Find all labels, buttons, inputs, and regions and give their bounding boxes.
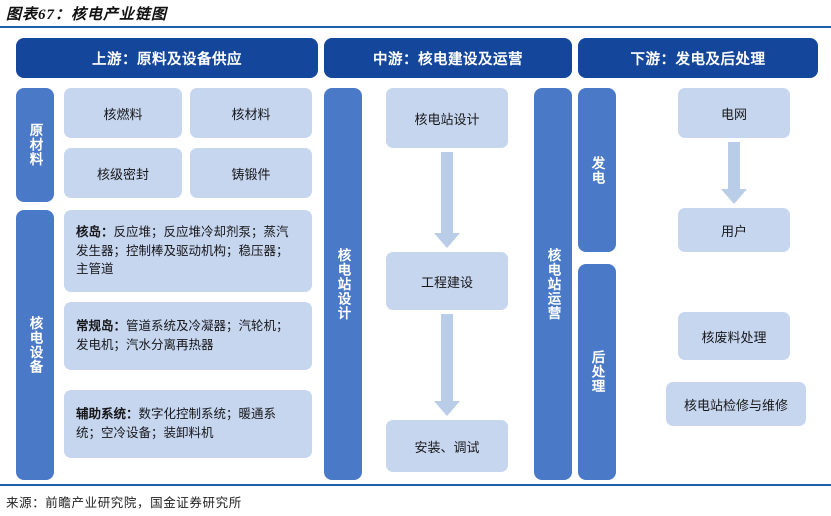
- top-divider: [0, 26, 831, 28]
- box-auxiliary-system-lead: 辅助系统：: [76, 407, 139, 421]
- arrow-construction-to-installation: [434, 314, 460, 416]
- page-title: 图表67：核电产业链图: [6, 3, 167, 24]
- box-nuclear-fuel[interactable]: 核燃料: [64, 88, 182, 138]
- box-power-grid[interactable]: 电网: [678, 88, 790, 138]
- column-header-upstream: 上游：原料及设备供应: [16, 38, 318, 78]
- supply-chain-diagram: 上游：原料及设备供应 原材料 核燃料 核材料 核级密封 铸锻件 核电设备 核岛：…: [0, 30, 831, 482]
- box-nuclear-waste-treatment[interactable]: 核废料处理: [678, 312, 790, 360]
- group-label-post-processing: 后处理: [578, 264, 616, 480]
- group-label-plant-operation: 核电站运营: [534, 88, 572, 480]
- box-conventional-island-lead: 常规岛：: [76, 319, 126, 333]
- group-label-nuclear-equipment: 核电设备: [16, 210, 54, 480]
- box-nuclear-grade-seal[interactable]: 核级密封: [64, 148, 182, 198]
- box-auxiliary-system[interactable]: 辅助系统：数字化控制系统；暖通系统；空冷设备；装卸料机: [64, 390, 312, 458]
- box-nuclear-material[interactable]: 核材料: [190, 88, 312, 138]
- box-end-user[interactable]: 用户: [678, 208, 790, 252]
- bottom-divider: [0, 484, 831, 486]
- box-castings-forgings[interactable]: 铸锻件: [190, 148, 312, 198]
- arrow-design-to-construction: [434, 152, 460, 248]
- box-nuclear-island-lead: 核岛：: [76, 225, 114, 239]
- flow-box-installation-commissioning[interactable]: 安装、调试: [386, 420, 508, 472]
- arrow-grid-to-user: [721, 142, 747, 204]
- column-header-downstream: 下游：发电及后处理: [578, 38, 818, 78]
- box-nuclear-island[interactable]: 核岛：反应堆；反应堆冷却剂泵；蒸汽发生器；控制棒及驱动机构；稳压器；主管道: [64, 210, 312, 292]
- flow-box-plant-design[interactable]: 核电站设计: [386, 88, 508, 148]
- group-label-plant-design: 核电站设计: [324, 88, 362, 480]
- flow-box-engineering-construction[interactable]: 工程建设: [386, 252, 508, 310]
- box-conventional-island[interactable]: 常规岛：管道系统及冷凝器；汽轮机；发电机；汽水分离再热器: [64, 302, 312, 370]
- column-header-midstream: 中游：核电建设及运营: [324, 38, 572, 78]
- source-note: 来源：前瞻产业研究院，国金证券研究所: [6, 492, 242, 511]
- box-plant-inspection-maintenance[interactable]: 核电站检修与维修: [666, 382, 806, 426]
- group-label-power-generation: 发电: [578, 88, 616, 252]
- group-label-raw-materials: 原材料: [16, 88, 54, 202]
